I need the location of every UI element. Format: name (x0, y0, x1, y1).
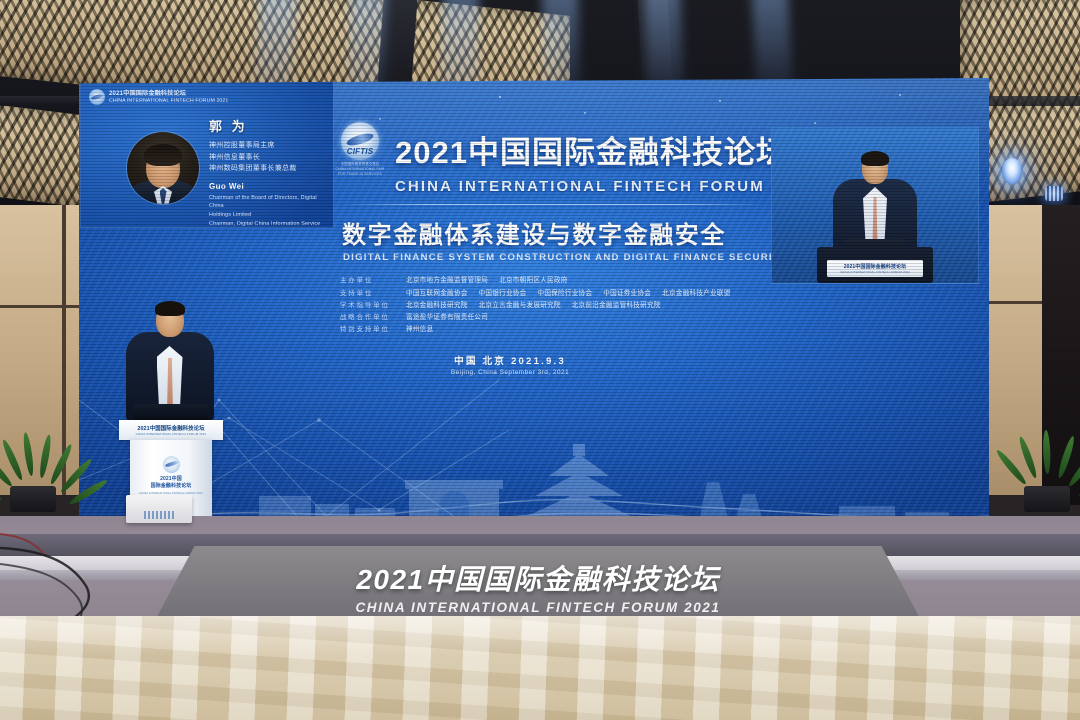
forum-headline-block: 中国国际服务贸易交易会 CHINA INTERNATIONAL FAIR FOR… (334, 122, 764, 376)
speaker-name-en: Guo Wei (209, 182, 327, 191)
speaker-title-cn-line: 神州控股董事局主席 (209, 140, 327, 152)
organizer-values: 中国互联网金融协会中国银行业协会中国保险行业协会中国证券业协会北京金融科技产业联… (406, 287, 742, 297)
organizer-values: 富途盈华证券有限责任公司 (406, 311, 499, 321)
organizer-value: 北京市地方金融监督管理局 (406, 277, 488, 284)
speaker-title-en-line: Chairman, Digital China Information Serv… (209, 220, 327, 228)
podium-nameplate-en: CHINA INTERNATIONAL FINTECH FORUM 2021 (136, 432, 207, 436)
floor-reflection (0, 616, 1080, 656)
front-banner-title-cn: 2021中国国际金融科技论坛 (356, 558, 719, 598)
organizer-values: 北京金融科技研究院北京立言金融与发展研究院北京前沿金融监管科技研究院 (406, 299, 672, 309)
headline-divider (342, 204, 762, 205)
forum-theme-cn: 数字金融体系建设与数字金融安全 (334, 215, 764, 250)
event-date-block: 中国 北京 2021.9.3 Beijing, China September … (334, 353, 664, 376)
speaker-title-cn-line: 神州信息董事长 (209, 152, 327, 164)
decorative-plant-right (1000, 400, 1080, 530)
ciftis-sub-en: CHINA INTERNATIONAL FAIR FOR TRADE IN SE… (334, 167, 386, 177)
front-banner-title-en: CHINA INTERNATIONAL FINTECH FORUM 2021 (355, 600, 720, 615)
ciftis-logo-icon (89, 89, 105, 105)
speaker-figure (122, 300, 217, 420)
ciftis-logo-icon (341, 122, 379, 160)
podium-column-cn-1: 2021中国 (130, 476, 212, 483)
organizer-row: 特别支持单位 神州信息 (340, 323, 764, 333)
event-date-en: Beijing, China September 3rd, 2021 (356, 369, 664, 376)
forum-title-en: CHINA INTERNATIONAL FINTECH FORUM 2021 (334, 178, 764, 195)
organizer-value: 北京前沿金融监管科技研究院 (572, 302, 661, 309)
speaker-portrait-photo (127, 132, 199, 204)
speaker-title-cn-line: 神州数码集团董事长兼总裁 (209, 163, 327, 175)
organizer-label: 战略合作单位 (340, 312, 396, 321)
speaker-titles-en: Chairman of the Board of Directors, Digi… (209, 194, 327, 228)
speaker-name-cn: 郭 为 (209, 116, 327, 135)
organizer-row: 战略合作单位 富途盈华证券有限责任公司 (340, 311, 764, 321)
forum-title-cn: 2021中国国际金融科技论坛 (395, 127, 788, 172)
organizer-list: 主办单位 北京市地方金融监督管理局北京市朝阳区人民政府 支持单位 中国互联网金融… (334, 274, 764, 333)
feed-plate-en: CHINA INTERNATIONAL FINTECH FORUM 2021 (840, 270, 910, 274)
podium-nameplate: 2021中国国际金融科技论坛 CHINA INTERNATIONAL FINTE… (119, 420, 223, 440)
organizer-value: 北京市朝阳区人民政府 (499, 277, 567, 284)
organizer-value: 北京立言金融与发展研究院 (479, 302, 561, 309)
speaker-title-en-line: Holdings Limited (209, 211, 327, 220)
corner-logo-cn: 2021中国国际金融科技论坛 (109, 90, 228, 98)
organizer-values: 北京市地方金融监督管理局北京市朝阳区人民政府 (406, 274, 579, 284)
organizer-value: 神州信息 (406, 326, 433, 333)
decorative-plant-left (0, 408, 110, 528)
podium-nameplate-cn: 2021中国国际金融科技论坛 (137, 424, 204, 432)
podium-column-cn-2: 国际金融科技论坛 (130, 483, 212, 490)
stage-front-banner: 2021中国国际金融科技论坛 CHINA INTERNATIONAL FINTE… (152, 546, 924, 626)
organizer-value: 富途盈华证券有限责任公司 (406, 314, 488, 321)
organizer-label: 学术指导单位 (340, 300, 396, 309)
organizer-row: 主办单位 北京市地方金融监督管理局北京市朝阳区人民政府 (340, 274, 764, 284)
stage-equipment-box (126, 495, 192, 523)
lectern-group: 2021中国国际金融科技论坛 CHINA INTERNATIONAL FINTE… (96, 300, 246, 525)
organizer-label: 主办单位 (340, 275, 396, 284)
organizer-value: 中国银行业协会 (479, 290, 527, 297)
live-camera-feed: 2021中国国际金融科技论坛 CHINA INTERNATIONAL FINTE… (771, 126, 979, 284)
feed-podium-nameplate: 2021中国国际金融科技论坛 CHINA INTERNATIONAL FINTE… (827, 260, 923, 277)
organizer-value: 中国证券业协会 (603, 290, 651, 297)
forum-theme-en: DIGITAL FINANCE SYSTEM CONSTRUCTION AND … (334, 252, 764, 263)
organizer-values: 神州信息 (406, 323, 444, 333)
speaker-titles-cn: 神州控股董事局主席 神州信息董事长 神州数码集团董事长兼总裁 (209, 140, 327, 175)
speaker-title-en-line: Chairman of the Board of Directors, Digi… (209, 194, 327, 212)
card-corner-logo: 2021中国国际金融科技论坛 CHINA INTERNATIONAL FINTE… (89, 89, 228, 105)
organizer-value: 中国保险行业协会 (538, 290, 593, 297)
organizer-value: 中国互联网金融协会 (406, 290, 468, 297)
organizer-value: 北京金融科技产业联盟 (662, 290, 730, 297)
speaker-info-card: 2021中国国际金融科技论坛 CHINA INTERNATIONAL FINTE… (80, 81, 334, 228)
organizer-value: 北京金融科技研究院 (406, 302, 468, 309)
feed-plate-cn: 2021中国国际金融科技论坛 (844, 263, 907, 270)
ciftis-logo-icon (163, 456, 180, 473)
conference-stage-photo: 2021中国国际金融科技论坛 CHINA INTERNATIONAL FINTE… (0, 0, 1080, 720)
corner-logo-en: CHINA INTERNATIONAL FINTECH FORUM 2021 (109, 98, 228, 104)
organizer-label: 支持单位 (340, 288, 396, 297)
organizer-row: 学术指导单位 北京金融科技研究院北京立言金融与发展研究院北京前沿金融监管科技研究… (340, 299, 764, 309)
event-date-cn: 中国 北京 2021.9.3 (356, 353, 664, 367)
organizer-row: 支持单位 中国互联网金融协会中国银行业协会中国保险行业协会中国证券业协会北京金融… (340, 287, 764, 297)
organizer-label: 特别支持单位 (340, 324, 396, 333)
ciftis-logo: 中国国际服务贸易交易会 CHINA INTERNATIONAL FAIR FOR… (334, 122, 386, 177)
